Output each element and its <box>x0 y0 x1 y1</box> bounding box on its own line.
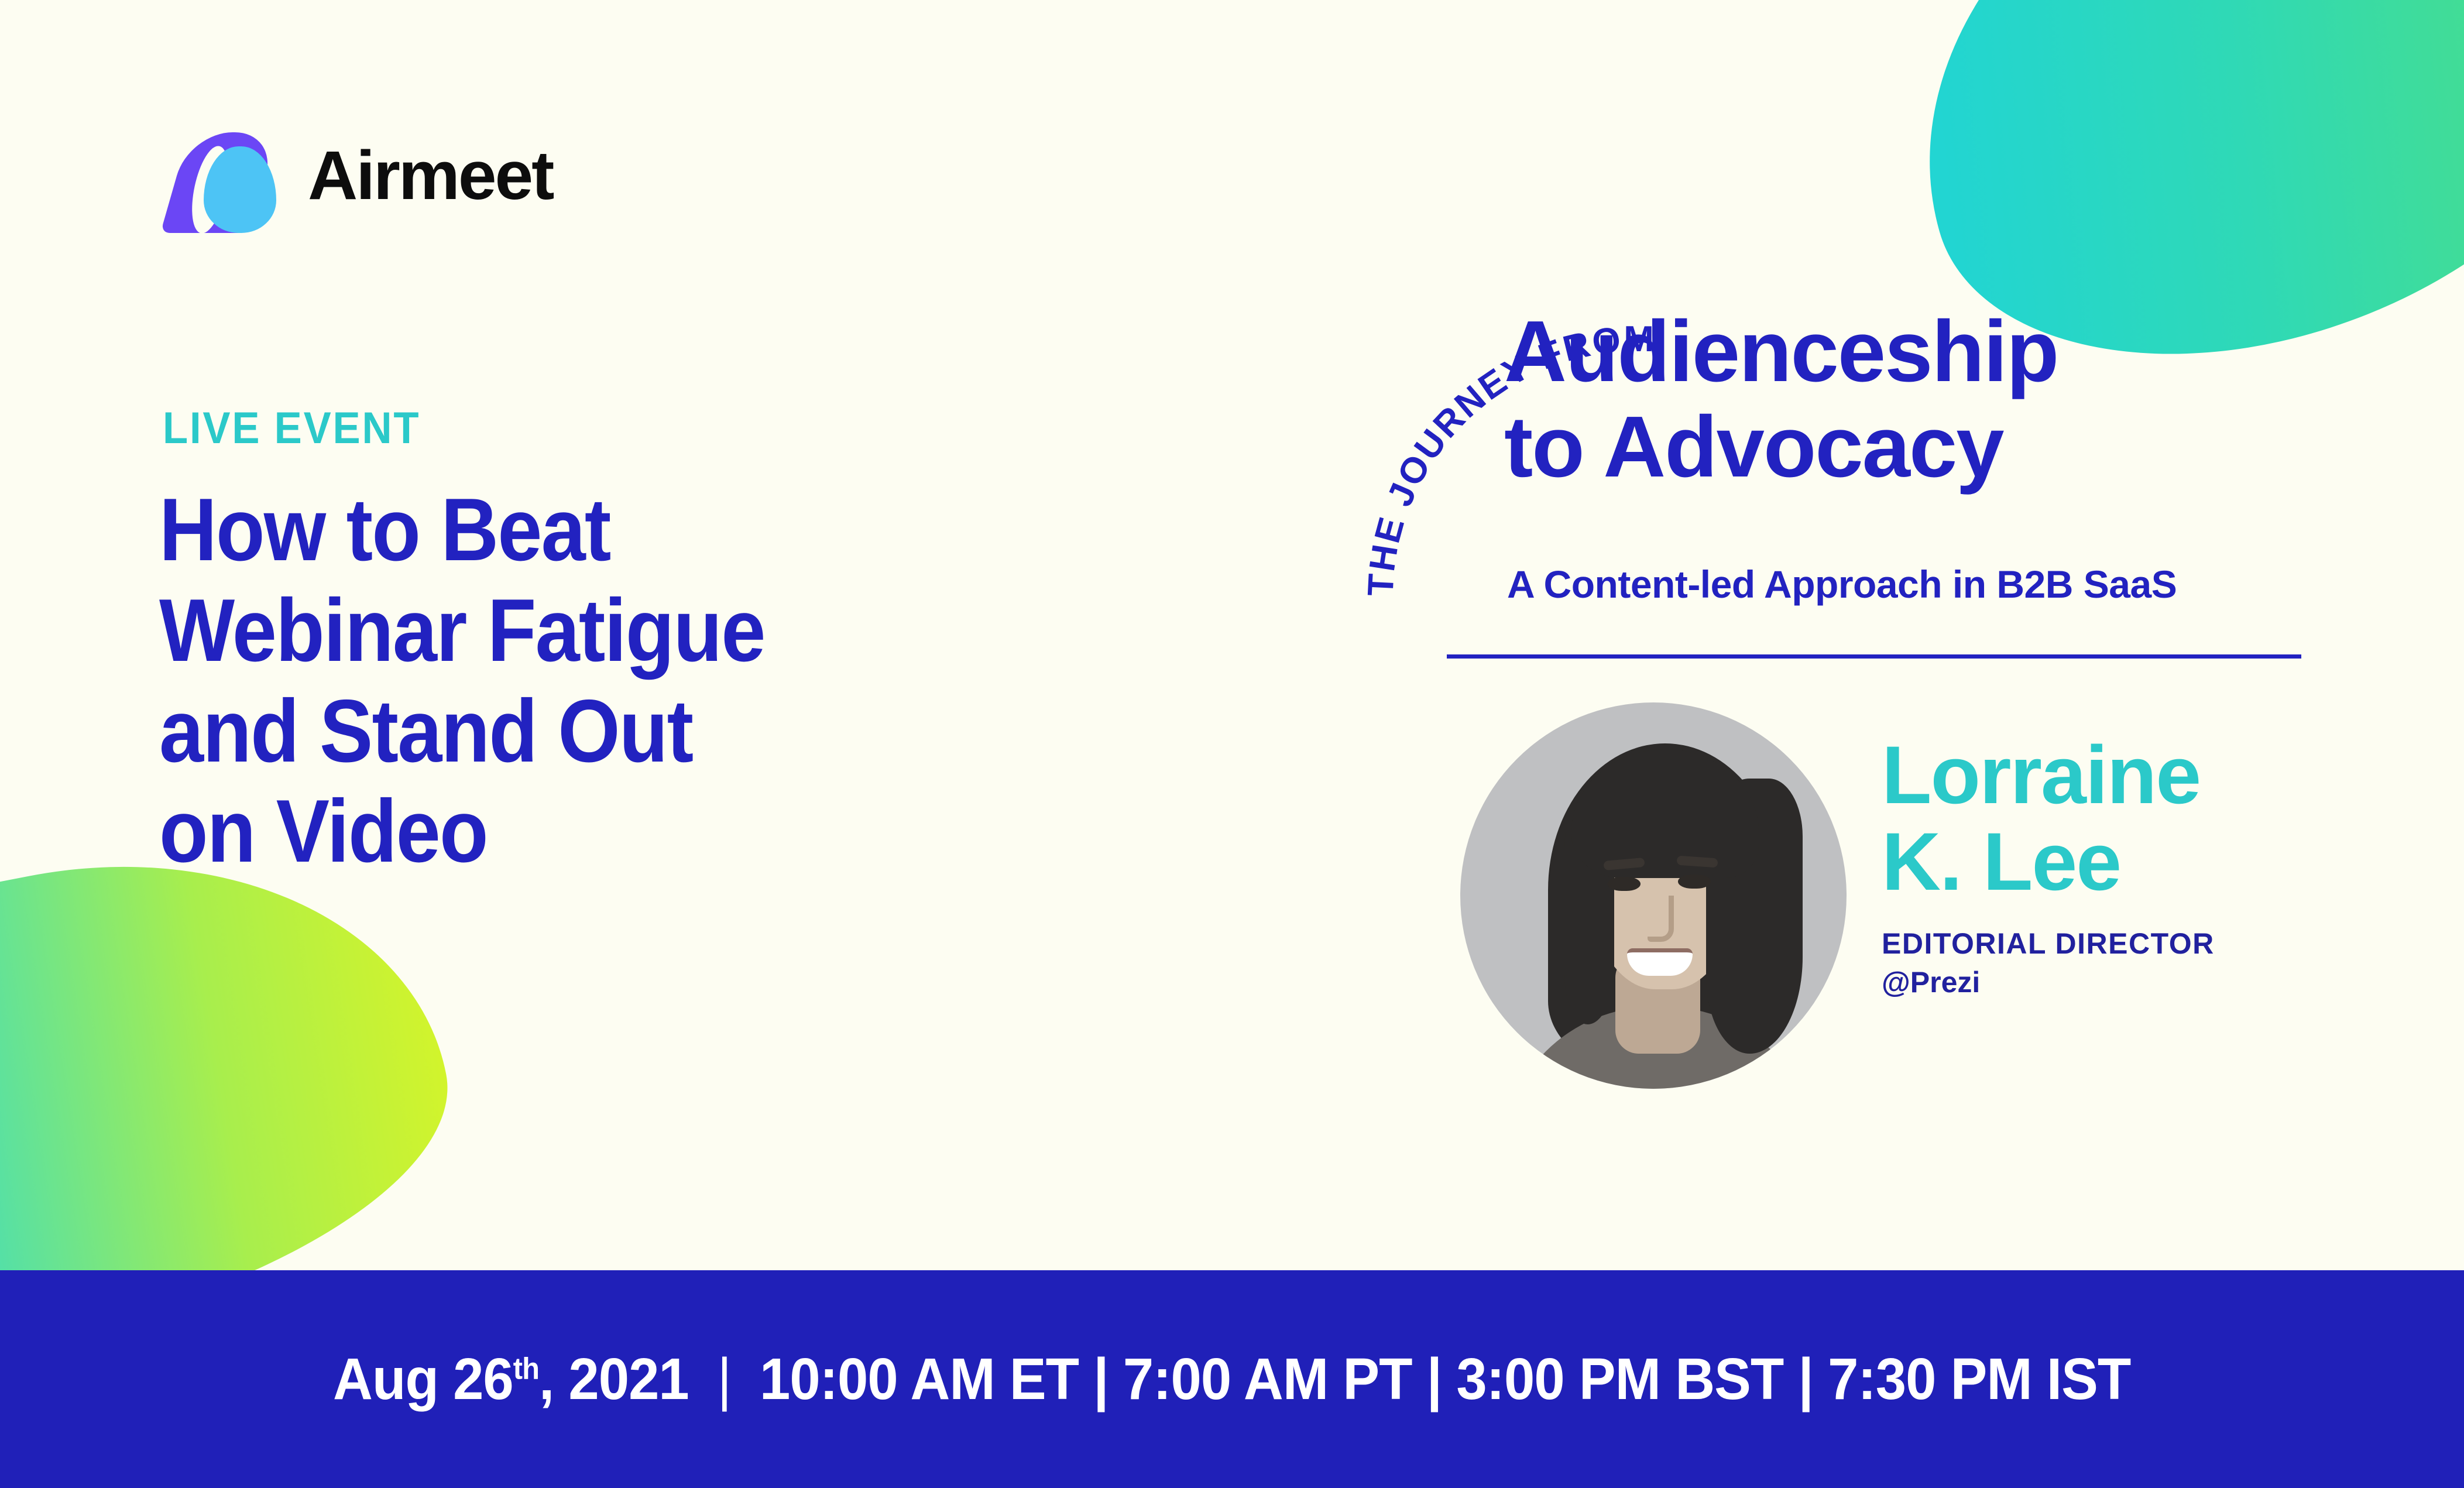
datebar-separator: | <box>689 1346 760 1413</box>
brand-logo[interactable]: Airmeet <box>159 117 552 234</box>
speaker-company: @Prezi <box>1882 965 2215 999</box>
portrait-nose <box>1648 896 1674 942</box>
page-title: How to Beat Webinar Fatigue and Stand Ou… <box>159 480 765 882</box>
event-eyebrow-label: LIVE EVENT <box>163 403 420 454</box>
section-divider <box>1447 654 2301 659</box>
portrait-mouth <box>1627 948 1693 976</box>
event-datetime-bar: Aug 26th, 2021 | 10:00 AM ET | 7:00 AM P… <box>0 1270 2464 1488</box>
speaker-name: Lorraine K. Lee <box>1882 732 2215 906</box>
event-subtitle: A Content-led Approach in B2B SaaS <box>1507 562 2177 606</box>
event-title: Audienceship to Advocacy <box>1504 304 2058 495</box>
speaker-role: EDITORIAL DIRECTOR <box>1882 927 2215 961</box>
brand-wordmark: Airmeet <box>308 141 552 210</box>
speaker-details: Lorraine K. Lee EDITORIAL DIRECTOR @Prez… <box>1882 702 2215 999</box>
event-times: 10:00 AM ET | 7:00 AM PT | 3:00 PM BST |… <box>760 1346 2130 1413</box>
airmeet-logo-icon <box>159 117 282 234</box>
portrait-eye-right <box>1678 875 1711 889</box>
speaker-avatar <box>1460 702 1847 1089</box>
portrait-eye-left <box>1608 877 1641 891</box>
event-datetime-inner: Aug 26th, 2021 | 10:00 AM ET | 7:00 AM P… <box>333 1346 2130 1413</box>
speaker-card: Lorraine K. Lee EDITORIAL DIRECTOR @Prez… <box>1460 702 2215 1089</box>
webinar-promo-banner: Airmeet LIVE EVENT How to Beat Webinar F… <box>0 0 2464 1488</box>
event-date: Aug 26th, 2021 <box>333 1346 689 1413</box>
